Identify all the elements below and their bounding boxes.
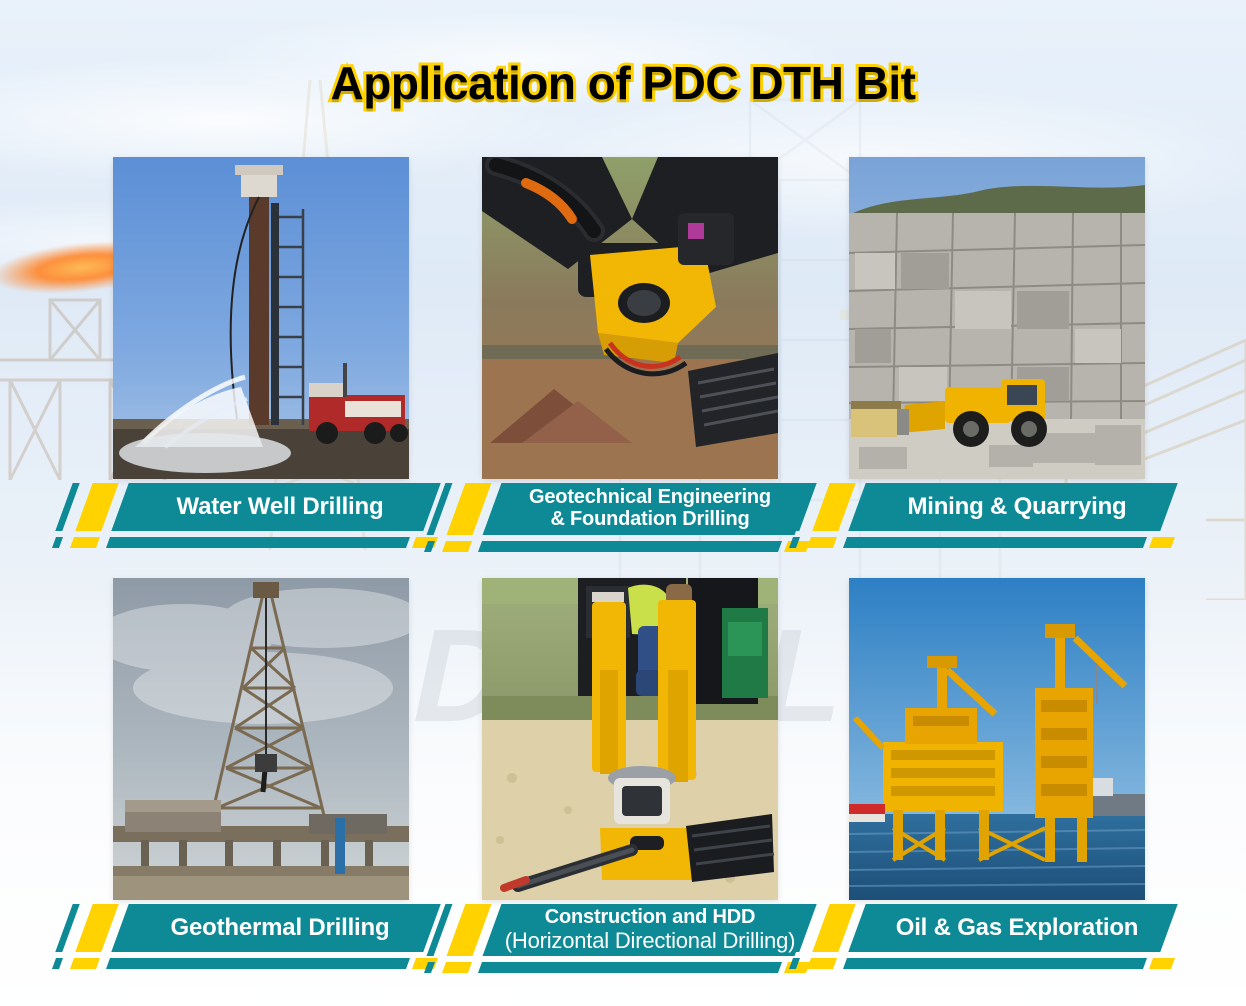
geotechnical-drill-head-photo-icon: [482, 157, 778, 479]
card-construction-hdd[interactable]: [482, 578, 778, 900]
underbar-mining-quarrying: [787, 537, 1179, 548]
label-accent-yellow: [812, 904, 855, 952]
label-line1: Geotechnical Engineering: [529, 487, 771, 509]
label-construction-hdd[interactable]: Construction and HDD (Horizontal Directi…: [430, 904, 810, 956]
underbar-accent-thin: [52, 958, 63, 969]
card-photo: [482, 578, 778, 900]
label-line1: Construction and HDD: [545, 907, 755, 929]
card-photo: [482, 157, 778, 479]
label-text-group: Mining & Quarrying: [867, 483, 1167, 531]
underbar-water-well-drilling: [50, 537, 442, 548]
underbar-accent-yellow: [442, 962, 472, 973]
underbar-accent-thin: [424, 541, 435, 552]
underbar-bar: [843, 958, 1147, 969]
label-line1: Oil & Gas Exploration: [896, 915, 1139, 941]
card-water-well-drilling[interactable]: [113, 157, 409, 479]
offshore-platform-photo-icon: [849, 578, 1145, 900]
card-geothermal-drilling[interactable]: [113, 578, 409, 900]
card-oil-gas-exploration[interactable]: [849, 578, 1145, 900]
underbar-bar: [478, 541, 782, 552]
geothermal-derrick-photo-icon: [113, 578, 409, 900]
underbar-construction-hdd: [422, 962, 814, 973]
underbar-accent-tail: [1149, 537, 1175, 548]
card-photo: [113, 578, 409, 900]
underbar-accent-thin: [789, 958, 800, 969]
label-text-group: Geothermal Drilling: [130, 904, 430, 952]
page-title: Application of PDC DTH Bit: [0, 56, 1246, 110]
label-accent-thin: [55, 483, 79, 531]
label-line1: Geothermal Drilling: [171, 915, 390, 941]
label-accent-yellow: [75, 904, 118, 952]
label-water-well-drilling[interactable]: Water Well Drilling: [58, 483, 438, 531]
underbar-accent-yellow: [70, 958, 100, 969]
label-geothermal-drilling[interactable]: Geothermal Drilling: [58, 904, 438, 952]
underbar-bar: [106, 537, 410, 548]
label-line1: Mining & Quarrying: [907, 494, 1126, 520]
underbar-accent-thin: [789, 537, 800, 548]
underbar-accent-yellow: [442, 541, 472, 552]
underbar-accent-thin: [52, 537, 63, 548]
card-geotechnical-engineering[interactable]: [482, 157, 778, 479]
quarry-loader-photo-icon: [849, 157, 1145, 479]
underbar-geotechnical-engineering: [422, 541, 814, 552]
underbar-oil-gas-exploration: [787, 958, 1179, 969]
card-photo: [849, 578, 1145, 900]
label-text-group: Construction and HDD (Horizontal Directi…: [500, 904, 800, 956]
label-line1: Water Well Drilling: [177, 494, 384, 520]
page-title-text: Application of PDC DTH Bit: [331, 56, 916, 110]
label-text-group: Water Well Drilling: [130, 483, 430, 531]
underbar-bar: [843, 537, 1147, 548]
water-well-drilling-photo-icon: [113, 157, 409, 479]
card-photo: [849, 157, 1145, 479]
label-text-group: Oil & Gas Exploration: [867, 904, 1167, 952]
label-text-group: Geotechnical Engineering & Foundation Dr…: [500, 483, 800, 535]
label-mining-quarrying[interactable]: Mining & Quarrying: [795, 483, 1175, 531]
label-line2: (Horizontal Directional Drilling): [505, 929, 796, 953]
label-accent-thin: [55, 904, 79, 952]
hdd-machine-photo-icon: [482, 578, 778, 900]
card-photo: [113, 157, 409, 479]
label-accent-yellow: [812, 483, 855, 531]
application-grid: Water Well Drilling: [0, 0, 1246, 1006]
label-geotechnical-engineering[interactable]: Geotechnical Engineering & Foundation Dr…: [430, 483, 810, 535]
underbar-bar: [106, 958, 410, 969]
underbar-accent-thin: [424, 962, 435, 973]
label-line2: & Foundation Drilling: [550, 509, 749, 531]
underbar-accent-tail: [1149, 958, 1175, 969]
underbar-geothermal-drilling: [50, 958, 442, 969]
card-mining-quarrying[interactable]: [849, 157, 1145, 479]
underbar-accent-yellow: [807, 537, 837, 548]
label-oil-gas-exploration[interactable]: Oil & Gas Exploration: [795, 904, 1175, 952]
underbar-accent-yellow: [807, 958, 837, 969]
label-accent-yellow: [75, 483, 118, 531]
underbar-bar: [478, 962, 782, 973]
underbar-accent-yellow: [70, 537, 100, 548]
